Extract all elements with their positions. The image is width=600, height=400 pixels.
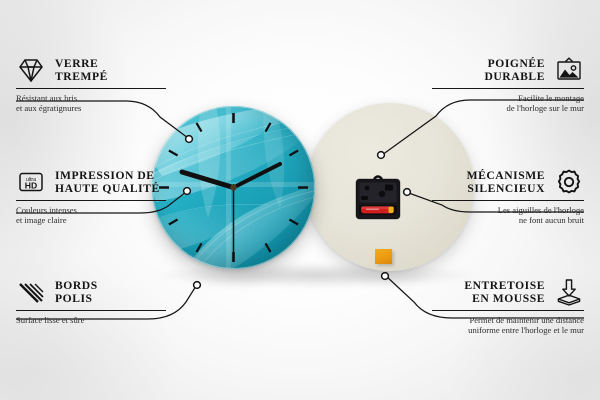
clock-front-face <box>152 106 315 269</box>
divider-rule <box>16 200 166 201</box>
feature-description: Résistant aux bris et aux égratignures <box>16 93 166 114</box>
diamond-icon <box>16 55 46 85</box>
feature-description: Facilite le montage de l'horloge sur le … <box>432 93 584 114</box>
ultra-hd-badge-icon: ultra HD <box>16 167 46 197</box>
divider-rule <box>432 88 584 89</box>
polished-edge-lines-icon <box>16 277 46 307</box>
feature-bords-polis[interactable]: BORDS POLIS Surface lisse et sûre <box>16 277 166 325</box>
feature-verre-trempe[interactable]: VERRE TREMPÉ Résistant aux bris et aux é… <box>16 55 166 114</box>
feature-description: Permet de maintenir une distance uniform… <box>432 315 584 336</box>
divider-rule <box>16 88 166 89</box>
svg-text:HD: HD <box>25 180 37 190</box>
feature-entretoise-en-mousse[interactable]: ENTRETOISE EN MOUSSE Permet de maintenir… <box>432 277 584 336</box>
feature-title: MÉCANISME SILENCIEUX <box>467 169 545 196</box>
feature-title: BORDS POLIS <box>55 279 98 306</box>
feature-title: VERRE TREMPÉ <box>55 57 108 84</box>
feature-impression-haute-qualite[interactable]: ultra HD IMPRESSION DE HAUTE QUALITÉ Cou… <box>16 167 166 226</box>
framed-picture-hanger-icon <box>554 55 584 85</box>
clock-mechanism <box>352 172 404 224</box>
minute-hand <box>234 164 281 188</box>
feature-title: POIGNÉE DURABLE <box>484 57 545 84</box>
feature-description: Les aiguilles de l'horloge ne font aucun… <box>432 205 584 226</box>
foam-spacer-press-icon <box>554 277 584 307</box>
feature-description: Surface lisse et sûre <box>16 315 166 326</box>
feature-description: Couleurs intenses et image claire <box>16 205 166 226</box>
divider-rule <box>16 310 166 311</box>
divider-rule <box>432 200 584 201</box>
feature-title: IMPRESSION DE HAUTE QUALITÉ <box>55 169 160 196</box>
feature-poignee-durable[interactable]: POIGNÉE DURABLE Facilite le montage de l… <box>432 55 584 114</box>
hour-hand <box>182 172 234 188</box>
infographic-canvas: VERRE TREMPÉ Résistant aux bris et aux é… <box>0 0 600 400</box>
foam-spacer-piece <box>375 249 392 264</box>
gear-icon <box>554 167 584 197</box>
feature-title: ENTRETOISE EN MOUSSE <box>464 279 545 306</box>
clock-center-cap <box>230 184 236 190</box>
divider-rule <box>432 310 584 311</box>
clock-hands-and-markers <box>152 106 315 269</box>
feature-mecanisme-silencieux[interactable]: MÉCANISME SILENCIEUX Les aiguilles de l'… <box>432 167 584 226</box>
